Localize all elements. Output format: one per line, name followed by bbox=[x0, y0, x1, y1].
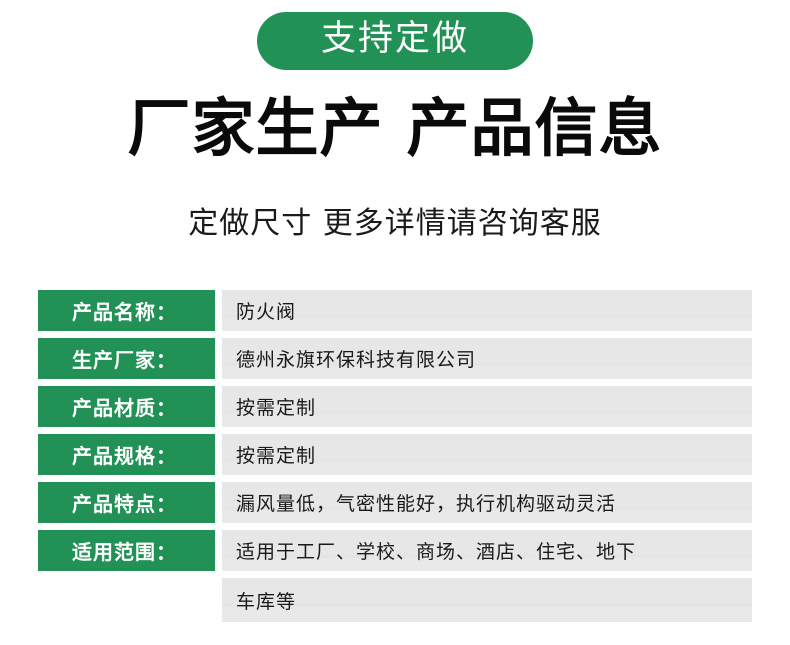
table-row: 生产厂家： 德州永旗环保科技有限公司 bbox=[38, 338, 752, 379]
table-row: 适用范围： 适用于工厂、学校、商场、酒店、住宅、地下 bbox=[38, 530, 752, 571]
spec-value: 德州永旗环保科技有限公司 bbox=[222, 338, 752, 379]
page-subtitle: 定做尺寸 更多详情请咨询客服 bbox=[0, 206, 790, 242]
table-row: 产品规格： 按需定制 bbox=[38, 434, 752, 475]
page-title: 厂家生产 产品信息 bbox=[0, 96, 790, 162]
spec-value: 按需定制 bbox=[222, 434, 752, 475]
spec-label: 产品名称： bbox=[38, 290, 215, 331]
spec-label: 产品材质： bbox=[38, 386, 215, 427]
spec-value: 漏风量低，气密性能好，执行机构驱动灵活 bbox=[222, 482, 752, 523]
table-row: 产品特点： 漏风量低，气密性能好，执行机构驱动灵活 bbox=[38, 482, 752, 523]
spec-label: 适用范围： bbox=[38, 530, 215, 571]
spec-label: 产品规格： bbox=[38, 434, 215, 475]
spec-label bbox=[38, 578, 215, 622]
spec-value: 车库等 bbox=[222, 578, 752, 622]
spec-label: 产品特点： bbox=[38, 482, 215, 523]
product-info-banner: 支持定做 厂家生产 产品信息 定做尺寸 更多详情请咨询客服 产品名称： 防火阀 … bbox=[0, 0, 790, 645]
table-row: 产品材质： 按需定制 bbox=[38, 386, 752, 427]
table-row: 车库等 bbox=[38, 578, 752, 622]
table-row: 产品名称： 防火阀 bbox=[38, 290, 752, 331]
spec-value: 适用于工厂、学校、商场、酒店、住宅、地下 bbox=[222, 530, 752, 571]
spec-value: 防火阀 bbox=[222, 290, 752, 331]
spec-value: 按需定制 bbox=[222, 386, 752, 427]
spec-label: 生产厂家： bbox=[38, 338, 215, 379]
support-custom-badge: 支持定做 bbox=[257, 12, 533, 70]
badge-row: 支持定做 bbox=[0, 12, 790, 70]
spec-table: 产品名称： 防火阀 生产厂家： 德州永旗环保科技有限公司 产品材质： 按需定制 … bbox=[38, 290, 752, 629]
